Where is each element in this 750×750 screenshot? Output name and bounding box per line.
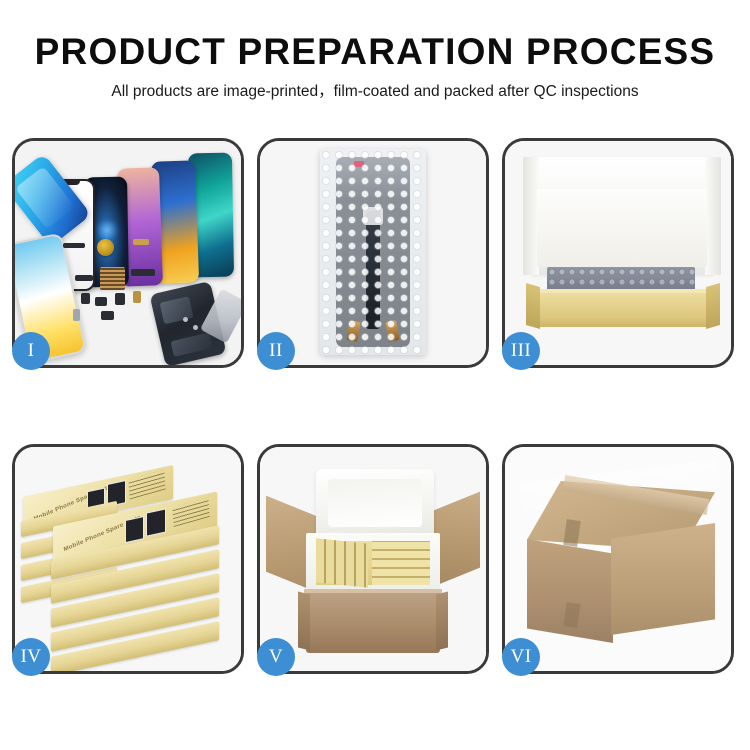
process-steps-grid: I II III <box>12 138 738 674</box>
retail-box-spec-lines-rear <box>128 470 165 500</box>
speaker-coil-part <box>97 239 114 256</box>
carton-left-face <box>527 539 613 643</box>
screen-flex-cable <box>366 211 380 329</box>
flex-cable-part-c <box>131 269 155 276</box>
small-component-e <box>73 309 80 321</box>
small-component-d <box>133 291 141 303</box>
step-panel-3: III <box>502 138 734 368</box>
packed-boxes-left-group <box>316 538 368 587</box>
step-badge-3: III <box>502 332 540 370</box>
white-foam-sheet <box>537 189 707 267</box>
step-image-4: Mobile Phone Spare Parts Mobile Phone Sp… <box>15 447 241 671</box>
screw-b <box>193 325 198 330</box>
earpiece-part <box>63 243 85 248</box>
step-badge-2: II <box>257 332 295 370</box>
packed-boxes-right-group <box>372 541 430 585</box>
small-component-c <box>115 293 125 305</box>
connector-grid-chip <box>100 267 125 290</box>
bubble-wrap-bag <box>320 149 426 355</box>
page-title: PRODUCT PREPARATION PROCESS <box>0 30 750 74</box>
step-panel-6: VI <box>502 444 734 674</box>
step-image-1 <box>15 141 241 365</box>
carton-right-face <box>611 523 715 635</box>
small-component-f <box>101 311 114 320</box>
screen-connector <box>363 207 383 225</box>
step-badge-5: V <box>257 638 295 676</box>
step-image-3 <box>505 141 731 365</box>
page-subtitle: All products are image-printed，film-coat… <box>0 80 750 104</box>
small-component-a <box>81 293 90 304</box>
step-image-2 <box>260 141 486 365</box>
step-panel-1: I <box>12 138 244 368</box>
step-panel-2: II <box>257 138 489 368</box>
pink-qc-label <box>354 161 364 167</box>
step-panel-4: Mobile Phone Spare Parts Mobile Phone Sp… <box>12 444 244 674</box>
small-component-b <box>95 297 107 306</box>
foam-lid <box>316 469 434 539</box>
retail-box-spec-lines-front <box>172 497 209 527</box>
packed-retail-boxes <box>316 541 430 585</box>
carton-front-face <box>306 593 440 653</box>
step-badge-6: VI <box>502 638 540 676</box>
step-badge-4: IV <box>12 638 50 676</box>
step-image-6 <box>505 447 731 671</box>
step-panel-5: V <box>257 444 489 674</box>
step-image-5 <box>260 447 486 671</box>
flex-cable-part-b <box>75 275 93 281</box>
screw-a <box>183 317 188 322</box>
page-header: PRODUCT PREPARATION PROCESS All products… <box>0 0 750 104</box>
flex-cable-part-a <box>133 239 149 245</box>
yellow-box-tray <box>535 293 711 327</box>
retail-box-screen-art-front-b <box>146 508 166 536</box>
retail-box-screen-art-front-a <box>125 516 144 543</box>
step-badge-1: I <box>12 332 50 370</box>
